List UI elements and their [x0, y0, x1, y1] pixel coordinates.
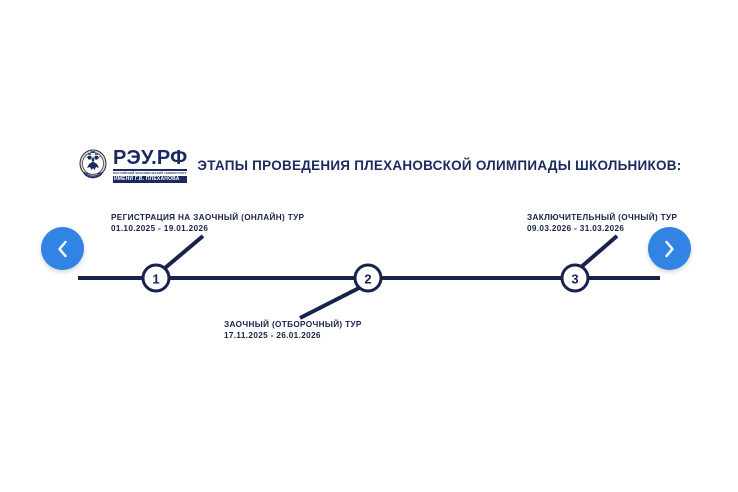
- stage-3-title: ЗАКЛЮЧИТЕЛЬНЫЙ (ОЧНЫЙ) ТУР: [527, 212, 677, 223]
- timeline-node-1[interactable]: 1: [143, 265, 169, 291]
- timeline-node-1-number: 1: [152, 272, 159, 287]
- carousel-prev-button[interactable]: [41, 227, 84, 270]
- timeline-connector-2: [300, 288, 359, 318]
- timeline-node-3-number: 3: [571, 272, 578, 287]
- chevron-left-icon: [56, 239, 69, 259]
- stage-2-dates: 17.11.2025 - 26.01.2026: [224, 330, 362, 341]
- carousel-next-button[interactable]: [648, 227, 691, 270]
- stage-2-title: ЗАОЧНЫЙ (ОТБОРОЧНЫЙ) ТУР: [224, 319, 362, 330]
- timeline-connector-3: [580, 236, 617, 268]
- stage-1-title: РЕГИСТРАЦИЯ НА ЗАОЧНЫЙ (ОНЛАЙН) ТУР: [111, 212, 304, 223]
- stage-label-3: ЗАКЛЮЧИТЕЛЬНЫЙ (ОЧНЫЙ) ТУР 09.03.2026 - …: [527, 212, 677, 234]
- timeline-node-3[interactable]: 3: [562, 265, 588, 291]
- timeline-node-2[interactable]: 2: [355, 265, 381, 291]
- stage-label-2: ЗАОЧНЫЙ (ОТБОРОЧНЫЙ) ТУР 17.11.2025 - 26…: [224, 319, 362, 341]
- slide-canvas: РЭУ.РФ РОССИЙСКИЙ ЭКОНОМИЧЕСКИЙ УНИВЕРСИ…: [0, 0, 738, 492]
- stage-label-1: РЕГИСТРАЦИЯ НА ЗАОЧНЫЙ (ОНЛАЙН) ТУР 01.1…: [111, 212, 304, 234]
- timeline-graphic: 1 2 3: [0, 0, 738, 492]
- timeline-connector-1: [165, 236, 203, 268]
- stage-1-dates: 01.10.2025 - 19.01.2026: [111, 223, 304, 234]
- chevron-right-icon: [663, 239, 676, 259]
- timeline-node-2-number: 2: [364, 272, 371, 287]
